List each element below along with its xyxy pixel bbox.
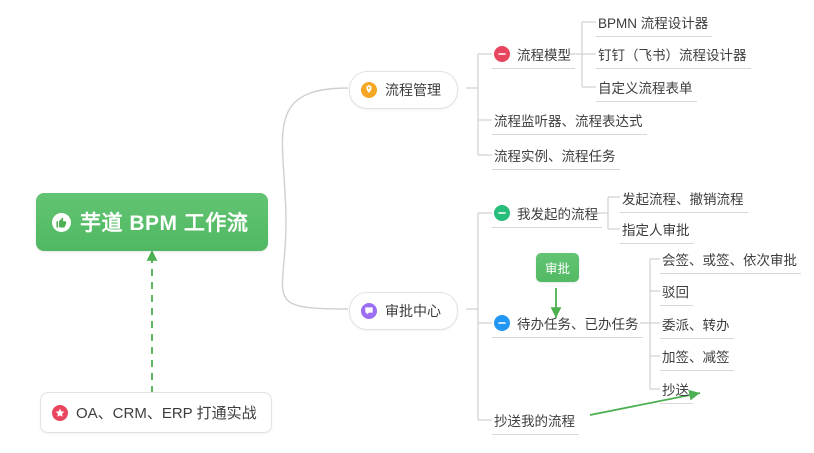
floating-node-oa-crm-erp[interactable]: OA、CRM、ERP 打通实战: [40, 392, 272, 433]
node-label-instance-task: 流程实例、流程任务: [494, 145, 616, 165]
node-label-bpmn-designer: BPMN 流程设计器: [598, 12, 708, 32]
node-process-model[interactable]: 流程模型: [492, 41, 575, 69]
node-label-custom-form: 自定义流程表单: [598, 77, 693, 97]
node-bpmn-designer[interactable]: BPMN 流程设计器: [596, 9, 712, 37]
node-start-cancel-process[interactable]: 发起流程、撤销流程: [620, 185, 748, 213]
location-pin-icon: [361, 82, 377, 98]
mindmap-canvas: 芋道 BPM 工作流 流程管理 流程模型 BPMN 流程设计器 钉钉（飞书）流程…: [0, 0, 814, 453]
node-instance-task[interactable]: 流程实例、流程任务: [492, 142, 620, 170]
root-label: 芋道 BPM 工作流: [80, 207, 248, 237]
minus-circle-icon: [494, 315, 510, 331]
thumbs-up-icon: [52, 213, 71, 232]
node-label-listener-expression: 流程监听器、流程表达式: [494, 110, 643, 130]
node-countersign[interactable]: 会签、或签、依次审批: [660, 246, 801, 274]
branch-node-approval-center[interactable]: 审批中心: [349, 292, 458, 330]
floating-label-approval: 审批: [545, 262, 570, 276]
minus-circle-icon: [494, 46, 510, 62]
node-add-remove-sign[interactable]: 加签、减签: [660, 343, 734, 371]
node-label-countersign: 会签、或签、依次审批: [662, 249, 797, 269]
node-todo-done-tasks[interactable]: 待办任务、已办任务: [492, 310, 643, 338]
node-label-start-cancel-process: 发起流程、撤销流程: [622, 188, 744, 208]
node-label-cc-to-me: 抄送我的流程: [494, 410, 575, 430]
node-listener-expression[interactable]: 流程监听器、流程表达式: [492, 107, 647, 135]
node-cc[interactable]: 抄送: [660, 376, 693, 404]
node-custom-form[interactable]: 自定义流程表单: [596, 74, 697, 102]
node-label-assign-approver: 指定人审批: [622, 219, 690, 239]
node-assign-approver[interactable]: 指定人审批: [620, 216, 694, 244]
node-cc-to-me[interactable]: 抄送我的流程: [492, 407, 579, 435]
message-circle-icon: [361, 303, 377, 319]
node-label-add-remove-sign: 加签、减签: [662, 346, 730, 366]
node-label-delegate-transfer: 委派、转办: [662, 314, 730, 334]
node-label-reject: 驳回: [662, 281, 689, 301]
node-dingtalk-designer[interactable]: 钉钉（飞书）流程设计器: [596, 41, 751, 69]
node-label-cc: 抄送: [662, 379, 689, 399]
floating-node-approval[interactable]: 审批: [536, 253, 579, 282]
node-label-process-model: 流程模型: [517, 44, 571, 64]
branch-label-approval-center: 审批中心: [385, 301, 441, 321]
node-label-my-initiated: 我发起的流程: [517, 203, 598, 223]
branch-node-process-management[interactable]: 流程管理: [349, 71, 458, 109]
node-delegate-transfer[interactable]: 委派、转办: [660, 311, 734, 339]
root-node[interactable]: 芋道 BPM 工作流: [36, 193, 268, 251]
floating-label-oa-crm-erp: OA、CRM、ERP 打通实战: [76, 402, 257, 423]
node-label-dingtalk-designer: 钉钉（飞书）流程设计器: [598, 44, 747, 64]
node-label-todo-done-tasks: 待办任务、已办任务: [517, 313, 639, 333]
minus-circle-icon: [494, 205, 510, 221]
branch-label-process-management: 流程管理: [385, 80, 441, 100]
star-circle-icon: [52, 405, 68, 421]
node-my-initiated[interactable]: 我发起的流程: [492, 200, 602, 228]
node-reject[interactable]: 驳回: [660, 278, 693, 306]
